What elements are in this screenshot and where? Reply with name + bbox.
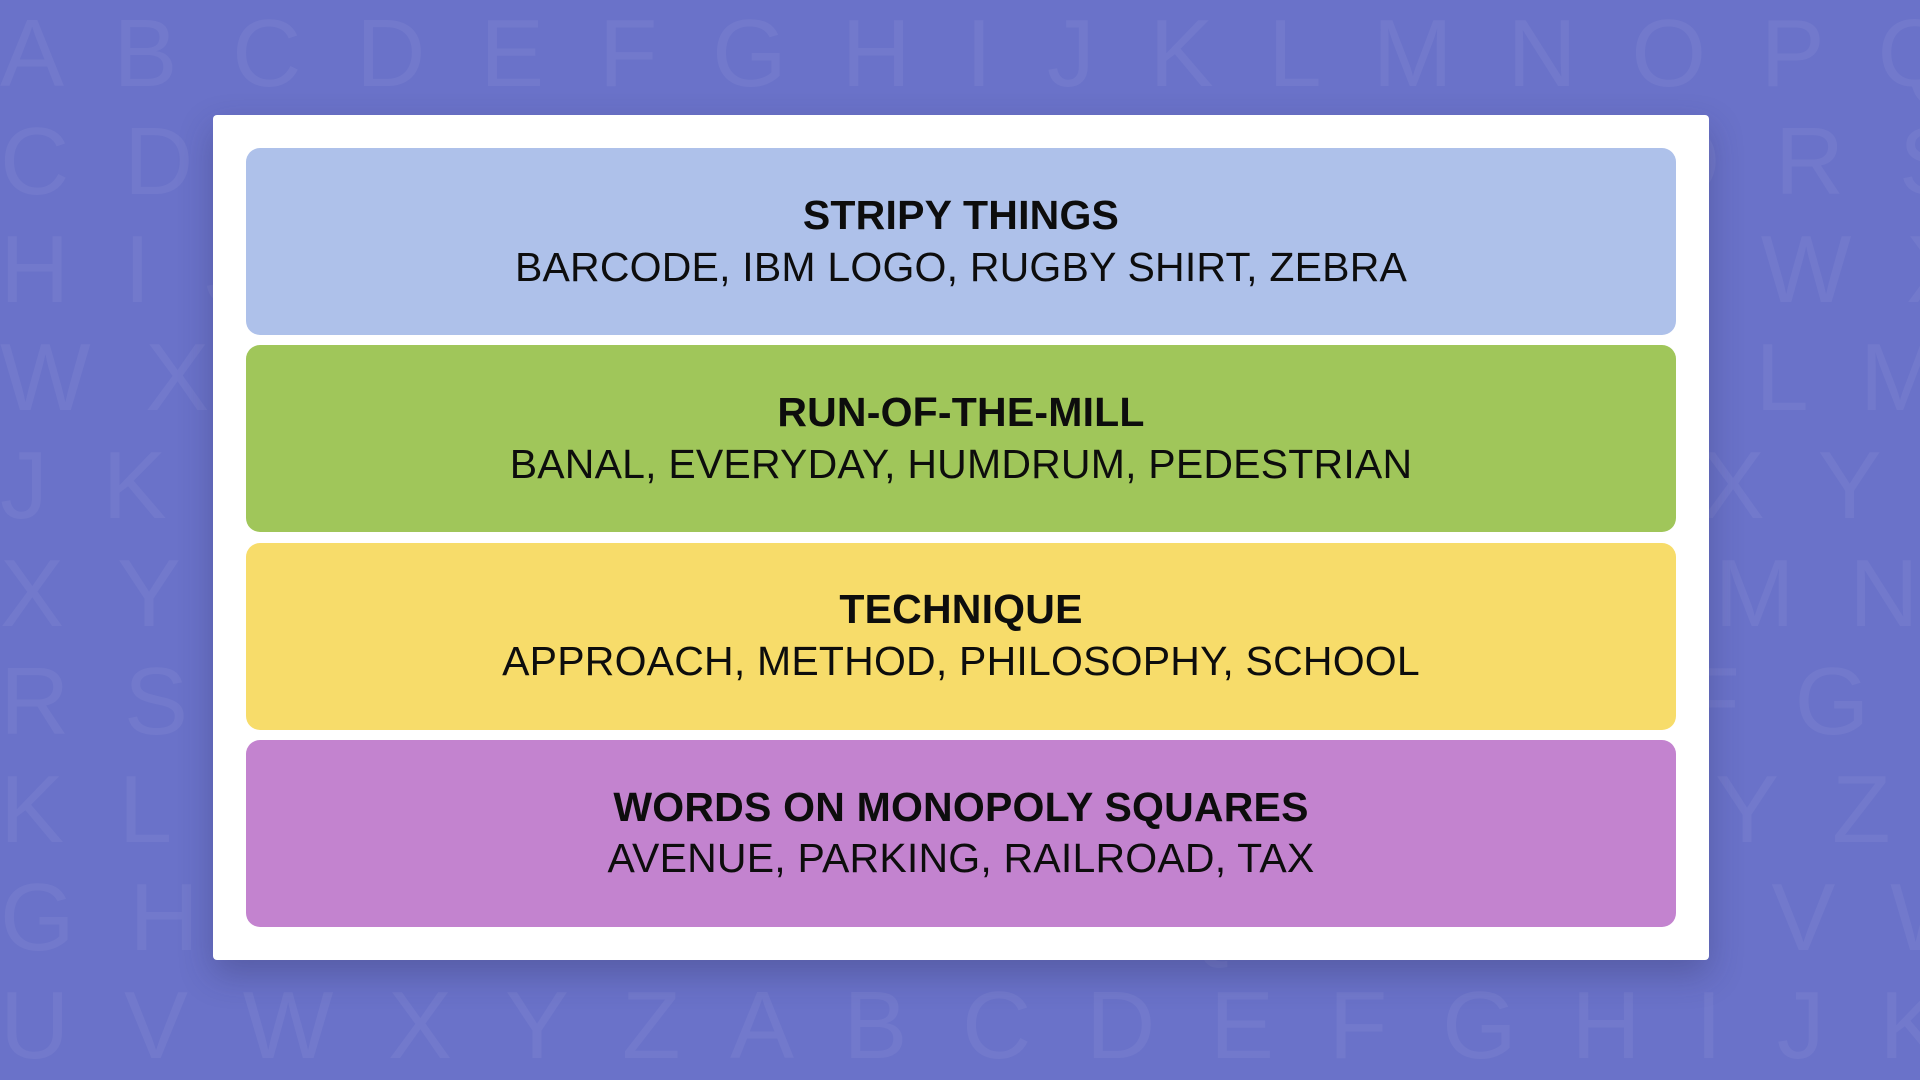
group-title: STRIPY THINGS: [803, 193, 1119, 239]
group-words: BARCODE, IBM LOGO, RUGBY SHIRT, ZEBRA: [515, 245, 1407, 291]
group-row-technique[interactable]: TECHNIQUE APPROACH, METHOD, PHILOSOPHY, …: [246, 543, 1676, 730]
background-letter-row: A B C D E F G H I J K L M N O P Q R S T …: [0, 0, 1920, 108]
group-words: APPROACH, METHOD, PHILOSOPHY, SCHOOL: [502, 639, 1420, 685]
group-row-stripy-things[interactable]: STRIPY THINGS BARCODE, IBM LOGO, RUGBY S…: [246, 148, 1676, 335]
group-title: WORDS ON MONOPOLY SQUARES: [613, 785, 1308, 831]
group-words: BANAL, EVERYDAY, HUMDRUM, PEDESTRIAN: [510, 442, 1413, 488]
group-title: RUN-OF-THE-MILL: [777, 390, 1144, 436]
group-row-words-on-monopoly-squares[interactable]: WORDS ON MONOPOLY SQUARES AVENUE, PARKIN…: [246, 740, 1676, 927]
connections-answers-card: STRIPY THINGS BARCODE, IBM LOGO, RUGBY S…: [213, 115, 1709, 960]
background-letter-row: U V W X Y Z A B C D E F G H I J K L M N …: [0, 972, 1920, 1080]
group-title: TECHNIQUE: [839, 587, 1082, 633]
group-words: AVENUE, PARKING, RAILROAD, TAX: [608, 836, 1315, 882]
group-row-run-of-the-mill[interactable]: RUN-OF-THE-MILL BANAL, EVERYDAY, HUMDRUM…: [246, 345, 1676, 532]
